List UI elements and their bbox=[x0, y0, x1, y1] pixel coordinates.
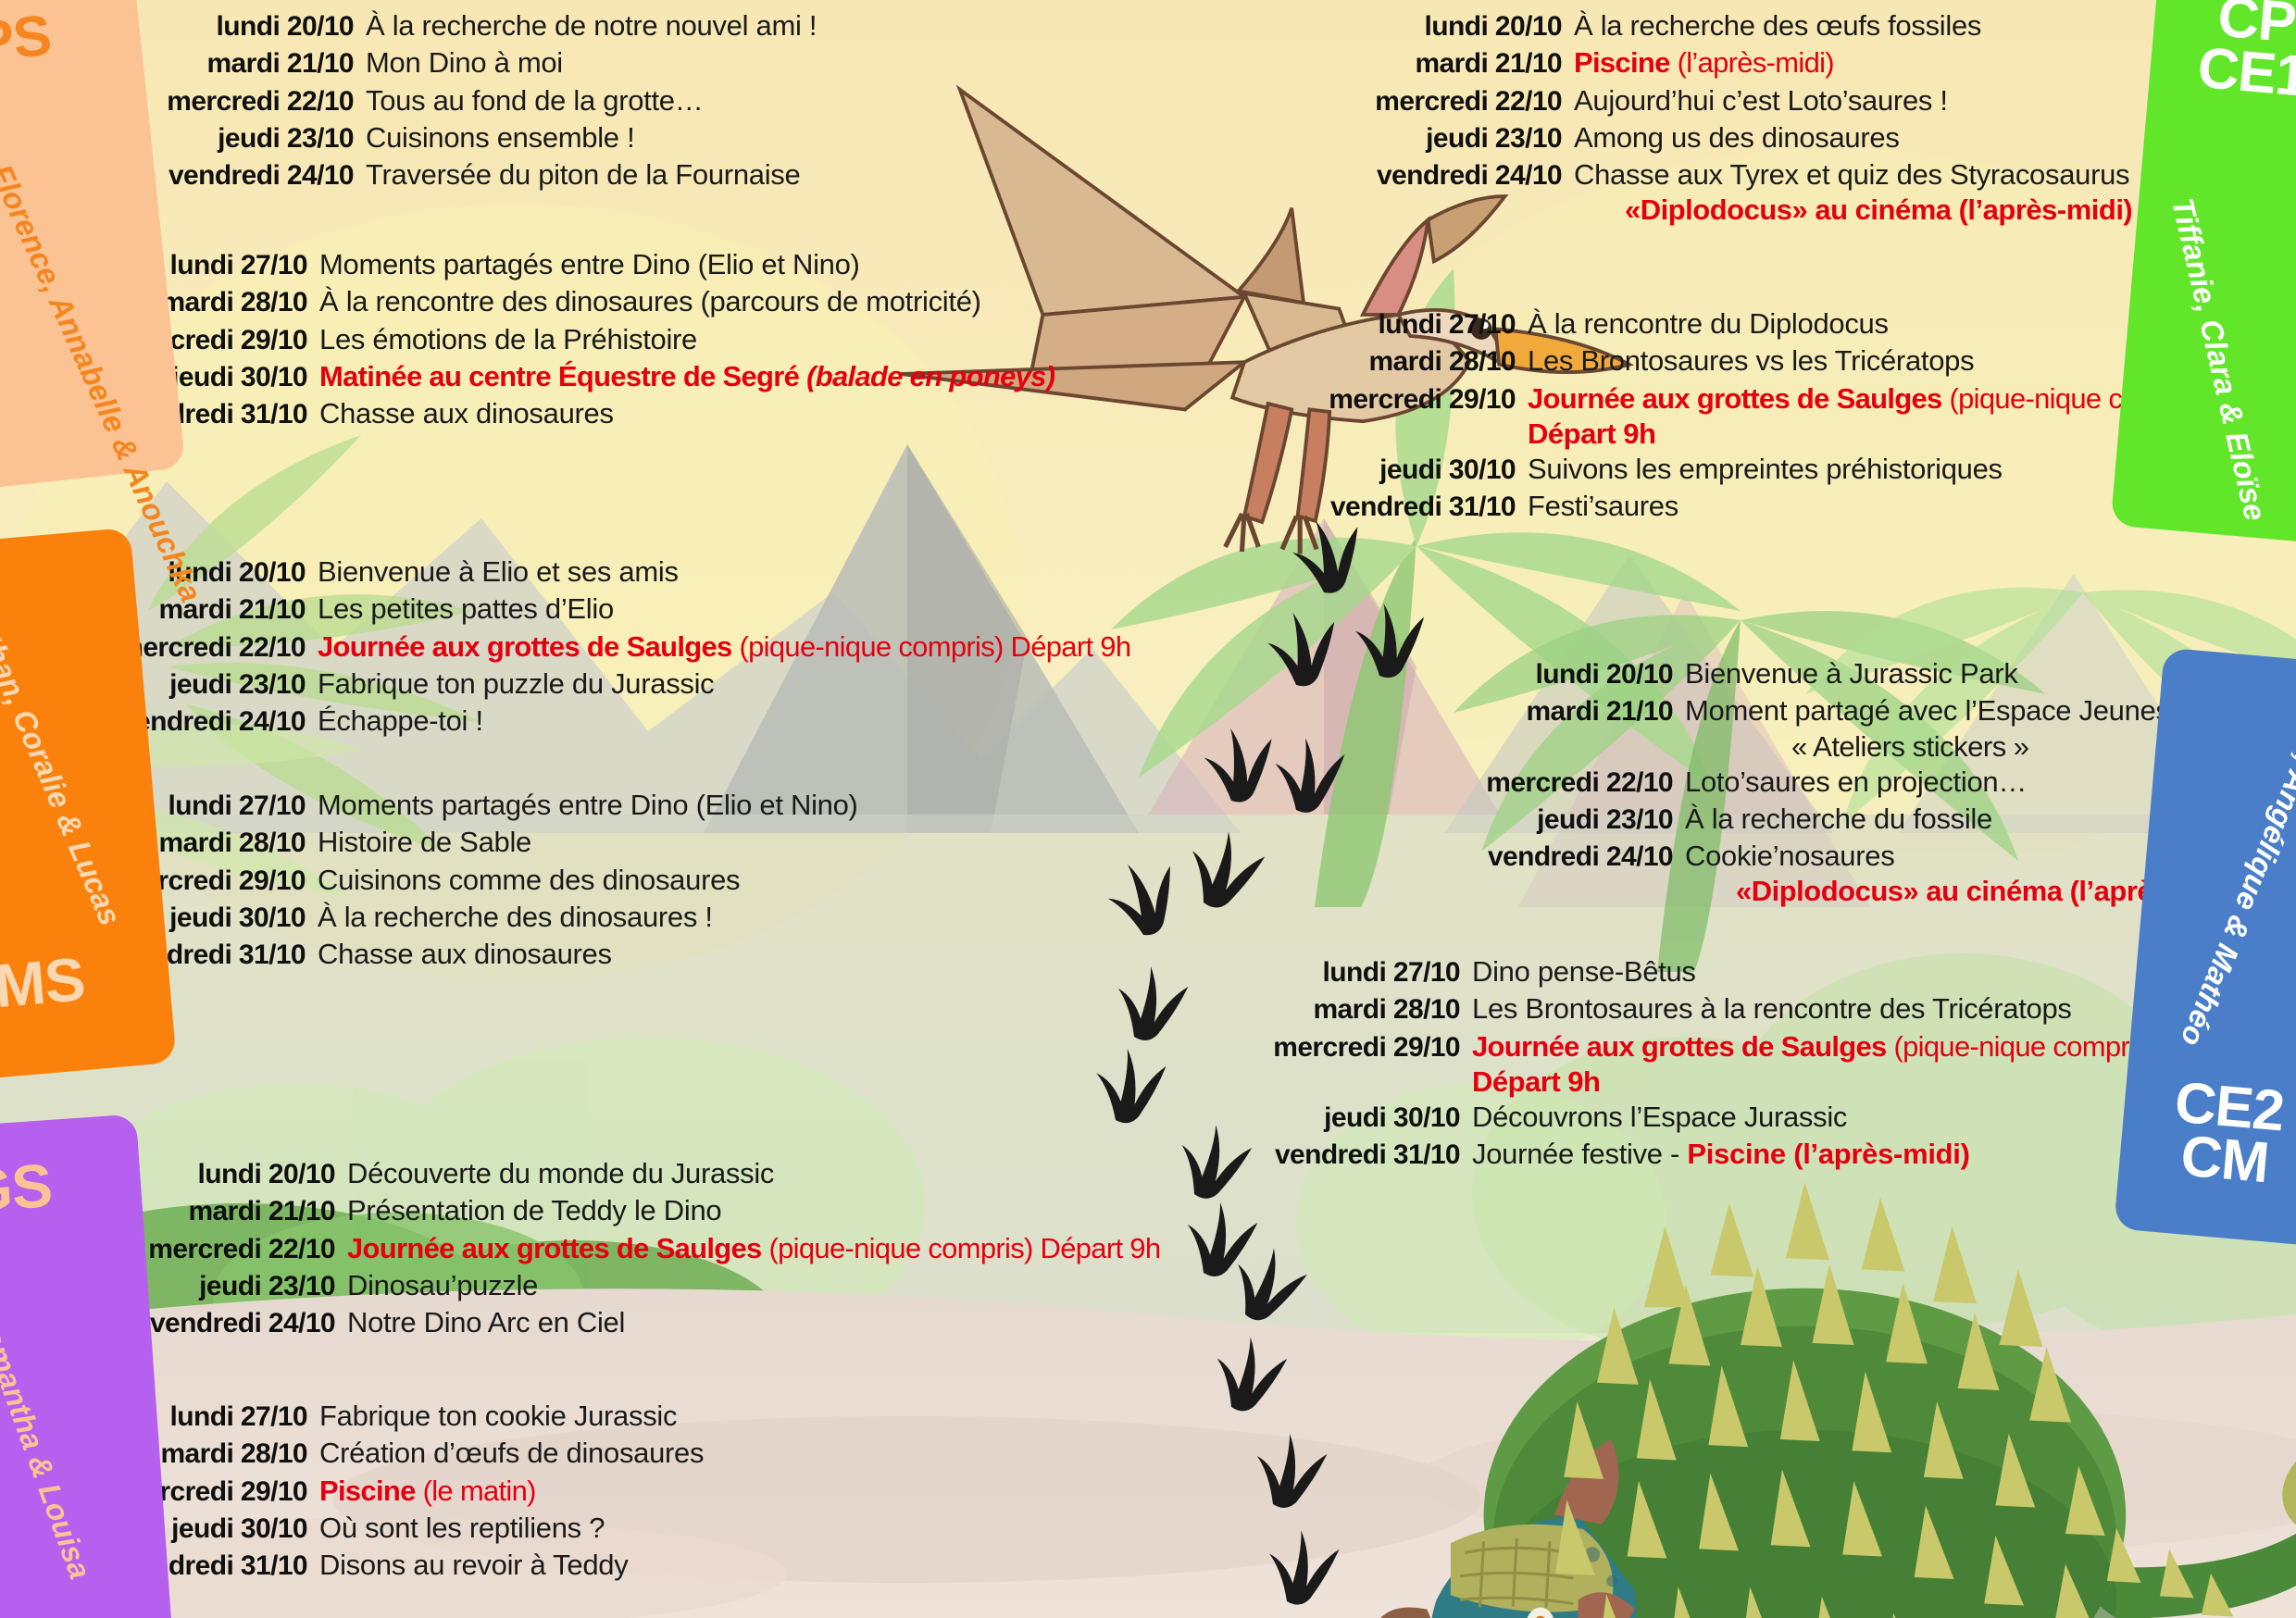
activity: Fabrique ton cookie Jurassic bbox=[307, 1398, 677, 1435]
activity-continuation: Départ 9h bbox=[1245, 1065, 2158, 1099]
group-code-cp-ce1: CP CE1 bbox=[2158, 0, 2296, 106]
schedule-row: mardi 21/10 Moment partagé avec l’Espace… bbox=[1458, 692, 2243, 729]
activity: Découverte du monde du Jurassic bbox=[335, 1155, 774, 1192]
day-date: mardi 28/10 bbox=[1301, 343, 1516, 380]
schedule-ce2-cm-week2: lundi 27/10 Dino pense-Bêtus mardi 28/10… bbox=[1245, 953, 2158, 1173]
schedule-row: mercredi 22/10 Loto’saures en projection… bbox=[1458, 764, 2243, 801]
schedule-ps-week1: lundi 20/10 À la recherche de notre nouv… bbox=[139, 7, 817, 193]
activity: Cuisinons ensemble ! bbox=[354, 119, 634, 156]
schedule-row: lundi 20/10 Découverte du monde du Juras… bbox=[120, 1155, 1160, 1192]
schedule-ms-week2: lundi 27/10 Moments partagés entre Dino … bbox=[91, 787, 858, 973]
schedule-row: mercredi 22/10 Tous au fond de la grotte… bbox=[139, 82, 817, 119]
activity: Matinée au centre Équestre de Segré (bal… bbox=[307, 358, 1054, 395]
schedule-row: jeudi 23/10 Dinosau’puzzle bbox=[120, 1267, 1160, 1304]
activity-main: Piscine bbox=[1574, 46, 1670, 79]
activity: À la recherche de notre nouvel ami ! bbox=[354, 7, 817, 44]
group-code-ps: PS bbox=[0, 3, 113, 76]
activity: Les petites pattes d’Elio bbox=[306, 591, 614, 628]
schedule-row: jeudi 30/10 Suivons les empreintes préhi… bbox=[1301, 451, 2214, 488]
day-date: mardi 21/10 bbox=[1347, 45, 1562, 81]
schedule-row: lundi 27/10 Moments partagés entre Dino … bbox=[93, 246, 1054, 283]
activity-continuation: Départ 9h bbox=[1301, 417, 2214, 451]
day-date: jeudi 23/10 bbox=[120, 1268, 335, 1304]
activity: Où sont les reptiliens ? bbox=[307, 1510, 605, 1547]
schedule-row: jeudi 23/10 Among us des dinosaures bbox=[1347, 119, 2132, 156]
schedule-row: vendredi 31/10 Chasse aux dinosaures bbox=[91, 936, 858, 973]
activity: Histoire de Sable bbox=[306, 824, 531, 861]
schedule-cp-ce1-week2: lundi 27/10 À la rencontre du Diplodocus… bbox=[1301, 305, 2214, 525]
activity: Among us des dinosaures bbox=[1562, 119, 1900, 156]
schedule-row-highlight: mercredi 29/10 Piscine (le matin) bbox=[93, 1473, 704, 1510]
schedule-row: vendredi 24/10 Notre Dino Arc en Ciel bbox=[120, 1304, 1160, 1341]
schedule-row: vendredi 24/10 Cookie’nosaures bbox=[1458, 838, 2243, 875]
activity: À la recherche du fossile bbox=[1673, 801, 1992, 838]
day-date: mardi 28/10 bbox=[1245, 991, 1460, 1027]
activity: Tous au fond de la grotte… bbox=[354, 82, 703, 119]
schedule-gs-week2: lundi 27/10 Fabrique ton cookie Jurassic… bbox=[93, 1398, 704, 1584]
activity: Moments partagés entre Dino (Elio et Nin… bbox=[306, 787, 858, 824]
activity: Moment partagé avec l’Espace Jeunes bbox=[1673, 692, 2170, 729]
activity: Mon Dino à moi bbox=[354, 44, 563, 81]
activity: Fabrique ton puzzle du Jurassic bbox=[306, 666, 714, 703]
schedule-gs-week1: lundi 20/10 Découverte du monde du Juras… bbox=[120, 1155, 1160, 1341]
activity-prefix: Journée festive - bbox=[1472, 1138, 1687, 1170]
day-date: vendredi 24/10 bbox=[139, 157, 354, 193]
day-date: lundi 20/10 bbox=[139, 8, 354, 44]
activity: Création d’œufs de dinosaures bbox=[307, 1435, 704, 1472]
schedule-row: lundi 27/10 Fabrique ton cookie Jurassic bbox=[93, 1398, 704, 1435]
activity-extra-note: «Diplodocus» au cinéma (l’après-midi) bbox=[1458, 875, 2243, 908]
activity: Aujourd’hui c’est Loto’saures ! bbox=[1562, 82, 1948, 119]
activity-note: (pique-nique compris) Départ 9h bbox=[740, 630, 1131, 663]
day-date: vendredi 31/10 bbox=[1301, 489, 1516, 525]
activity: Journée festive - Piscine (l’après-midi) bbox=[1460, 1136, 1970, 1173]
activity: À la recherche des œufs fossiles bbox=[1562, 7, 1981, 44]
day-date: vendredi 31/10 bbox=[1245, 1137, 1460, 1173]
schedule-row: mercredi 29/10 Cuisinons comme des dinos… bbox=[91, 862, 858, 899]
activity: Moments partagés entre Dino (Elio et Nin… bbox=[307, 246, 860, 283]
activity: Bienvenue à Elio et ses amis bbox=[306, 554, 679, 591]
group-names-ms: Nathan, Coralie & Lucas bbox=[0, 593, 128, 930]
group-code-ce2-cm: CE2 CM bbox=[2128, 1073, 2296, 1195]
day-date: mardi 21/10 bbox=[120, 1193, 335, 1229]
activity-note: (l’après-midi) bbox=[1793, 1138, 1969, 1170]
schedule-row: lundi 20/10 Bienvenue à Jurassic Park bbox=[1458, 655, 2243, 692]
schedule-row: mardi 28/10 Création d’œufs de dinosaure… bbox=[93, 1435, 704, 1472]
group-names-ce2-cm: Loïc, Angélique & Mathéo bbox=[2173, 693, 2296, 1052]
activity-main: Journée aux grottes de Saulges bbox=[1472, 1030, 1887, 1063]
activity-note: (pique-nique compris) bbox=[1894, 1030, 2158, 1063]
group-names-cp-ce1: Tiffanie, Clara & Eloïse bbox=[2165, 194, 2273, 524]
schedule-row: mardi 28/10 Les Brontosaures vs les Tric… bbox=[1301, 342, 2214, 380]
day-date: jeudi 23/10 bbox=[139, 120, 354, 156]
schedule-row: lundi 27/10 Dino pense-Bêtus bbox=[1245, 953, 2158, 990]
activity: Loto’saures en projection… bbox=[1673, 764, 2027, 801]
day-date: vendredi 24/10 bbox=[1458, 839, 1673, 875]
schedule-row: vendredi 31/10 Chasse aux dinosaures bbox=[93, 395, 1054, 432]
schedule-row: mercredi 29/10 Les émotions de la Préhis… bbox=[93, 321, 1054, 358]
activity: Piscine (le matin) bbox=[307, 1473, 536, 1510]
day-date: vendredi 24/10 bbox=[120, 1305, 335, 1341]
day-date: lundi 27/10 bbox=[1245, 954, 1460, 990]
activity: À la recherche des dinosaures ! bbox=[306, 899, 713, 936]
schedule-row: vendredi 24/10 Chasse aux Tyrex et quiz … bbox=[1347, 156, 2132, 193]
activity-note: (l’après-midi) bbox=[1678, 46, 1834, 79]
activity: Échappe-toi ! bbox=[306, 703, 483, 740]
schedule-row: lundi 27/10 À la rencontre du Diplodocus bbox=[1301, 305, 2214, 342]
activity: Journée aux grottes de Saulges (pique-ni… bbox=[1516, 380, 2214, 417]
day-date: mercredi 22/10 bbox=[139, 83, 354, 119]
activity: Chasse aux Tyrex et quiz des Styracosaur… bbox=[1562, 156, 2129, 193]
day-date: mercredi 22/10 bbox=[1347, 83, 1562, 119]
activity-note: (balade en poneys) bbox=[806, 360, 1054, 392]
activity-main: Journée aux grottes de Saulges bbox=[347, 1232, 762, 1264]
activity-main: Piscine bbox=[1687, 1138, 1785, 1170]
activity-main: Matinée au centre Équestre de Segré bbox=[319, 360, 799, 392]
group-names-gs: Samantha & Louisa bbox=[0, 1305, 98, 1584]
day-date: jeudi 30/10 bbox=[1301, 452, 1516, 488]
activity: Présentation de Teddy le Dino bbox=[335, 1192, 721, 1229]
schedule-row: vendredi 24/10 Traversée du piton de la … bbox=[139, 156, 817, 193]
activity: Disons au revoir à Teddy bbox=[307, 1547, 628, 1584]
day-date: mardi 21/10 bbox=[139, 45, 354, 81]
activity: Découvrons l’Espace Jurassic bbox=[1460, 1099, 1847, 1136]
day-date: mercredi 22/10 bbox=[1458, 765, 1673, 801]
group-code-gs: GS bbox=[0, 1153, 109, 1223]
schedule-row: mardi 28/10 Histoire de Sable bbox=[91, 824, 858, 861]
activity: Cookie’nosaures bbox=[1673, 838, 1894, 875]
activity: À la rencontre du Diplodocus bbox=[1516, 305, 1889, 342]
activity: Bienvenue à Jurassic Park bbox=[1673, 655, 2018, 692]
schedule-row: jeudi 23/10 Fabrique ton puzzle du Juras… bbox=[91, 666, 1130, 703]
activity: Notre Dino Arc en Ciel bbox=[335, 1304, 625, 1341]
day-date: mercredi 29/10 bbox=[1245, 1029, 1460, 1065]
day-date: mardi 21/10 bbox=[1458, 693, 1673, 729]
schedule-ps-week2: lundi 27/10 Moments partagés entre Dino … bbox=[93, 246, 1054, 432]
activity-extra-note: «Diplodocus» au cinéma (l’après-midi) bbox=[1347, 193, 2132, 227]
schedule-row-highlight: mercredi 29/10 Journée aux grottes de Sa… bbox=[1245, 1028, 2158, 1065]
schedule-row: jeudi 30/10 Où sont les reptiliens ? bbox=[93, 1510, 704, 1547]
activity: Dinosau’puzzle bbox=[335, 1267, 538, 1304]
schedule-row: vendredi 31/10 Disons au revoir à Teddy bbox=[93, 1547, 704, 1584]
schedule-row-highlight: jeudi 30/10 Matinée au centre Équestre d… bbox=[93, 358, 1054, 395]
schedule-cp-ce1-week1: lundi 20/10 À la recherche des œufs foss… bbox=[1347, 7, 2132, 227]
schedule-row: mercredi 22/10 Aujourd’hui c’est Loto’sa… bbox=[1347, 82, 2132, 119]
schedule-row: jeudi 23/10 Cuisinons ensemble ! bbox=[139, 119, 817, 156]
activity-note: (le matin) bbox=[423, 1475, 536, 1507]
schedule-row: lundi 20/10 Bienvenue à Elio et ses amis bbox=[91, 554, 1130, 591]
schedule-row-highlight: mercredi 29/10 Journée aux grottes de Sa… bbox=[1301, 380, 2214, 417]
activity-note: (pique-nique compris) Départ 9h bbox=[769, 1232, 1161, 1264]
activity: Journée aux grottes de Saulges (pique-ni… bbox=[335, 1230, 1160, 1267]
group-code-ms: MS bbox=[0, 946, 140, 1019]
activity: Journée aux grottes de Saulges (pique-ni… bbox=[1460, 1028, 2158, 1065]
schedule-row: jeudi 30/10 À la recherche des dinosaure… bbox=[91, 899, 858, 936]
activity-main: Journée aux grottes de Saulges bbox=[318, 630, 732, 663]
day-date: lundi 20/10 bbox=[120, 1156, 335, 1192]
day-date: lundi 27/10 bbox=[1301, 306, 1516, 342]
day-date: mercredi 29/10 bbox=[1301, 381, 1516, 417]
schedule-row: jeudi 23/10 À la recherche du fossile bbox=[1458, 801, 2243, 838]
activity: Les émotions de la Préhistoire bbox=[307, 321, 697, 358]
schedule-ce2-cm-week1: lundi 20/10 Bienvenue à Jurassic Park ma… bbox=[1458, 655, 2243, 908]
activity-main: Piscine bbox=[319, 1475, 416, 1507]
schedule-row: lundi 20/10 À la recherche des œufs foss… bbox=[1347, 7, 2132, 44]
day-date: lundi 20/10 bbox=[1347, 8, 1562, 44]
schedule-row: lundi 20/10 À la recherche de notre nouv… bbox=[139, 7, 817, 44]
schedule-row: vendredi 24/10 Échappe-toi ! bbox=[91, 703, 1130, 740]
activity: Suivons les empreintes préhistoriques bbox=[1516, 451, 2003, 488]
activity: Les Brontosaures à la rencontre des Tric… bbox=[1460, 990, 2072, 1027]
schedule-row: mardi 21/10 Mon Dino à moi bbox=[139, 44, 817, 81]
activity: Cuisinons comme des dinosaures bbox=[306, 862, 740, 899]
schedule-row: mardi 28/10 À la rencontre des dinosaure… bbox=[93, 283, 1054, 320]
schedule-row: mardi 21/10 Présentation de Teddy le Din… bbox=[120, 1192, 1160, 1229]
day-date: jeudi 30/10 bbox=[1245, 1100, 1460, 1136]
activity: Journée aux grottes de Saulges (pique-ni… bbox=[306, 629, 1130, 666]
schedule-row: jeudi 30/10 Découvrons l’Espace Jurassic bbox=[1245, 1099, 2158, 1136]
schedule-row: lundi 27/10 Moments partagés entre Dino … bbox=[91, 787, 858, 824]
activity: Dino pense-Bêtus bbox=[1460, 953, 1696, 990]
day-date: jeudi 23/10 bbox=[1347, 120, 1562, 156]
schedule-row: mardi 28/10 Les Brontosaures à la rencon… bbox=[1245, 990, 2158, 1027]
schedule-row-highlight: mercredi 22/10 Journée aux grottes de Sa… bbox=[120, 1230, 1160, 1267]
schedule-ms-week1: lundi 20/10 Bienvenue à Elio et ses amis… bbox=[91, 554, 1130, 740]
activity: Piscine (l’après-midi) bbox=[1562, 44, 1834, 81]
activity-continuation: « Ateliers stickers » bbox=[1458, 730, 2243, 764]
schedule-row-highlight: mercredi 22/10 Journée aux grottes de Sa… bbox=[91, 629, 1130, 666]
activity: Les Brontosaures vs les Tricératops bbox=[1516, 342, 1974, 380]
activity: Chasse aux dinosaures bbox=[306, 936, 612, 973]
activity: À la rencontre des dinosaures (parcours … bbox=[307, 283, 981, 320]
schedule-row: vendredi 31/10 Festi’saures bbox=[1301, 488, 2214, 525]
activity: Traversée du piton de la Fournaise bbox=[354, 156, 800, 193]
activity: Festi’saures bbox=[1516, 488, 1678, 525]
day-date: jeudi 23/10 bbox=[1458, 802, 1673, 838]
schedule-row: vendredi 31/10 Journée festive - Piscine… bbox=[1245, 1136, 2158, 1173]
activity-main: Journée aux grottes de Saulges bbox=[1528, 382, 1942, 415]
activity: Chasse aux dinosaures bbox=[307, 395, 614, 432]
day-date: lundi 20/10 bbox=[1458, 656, 1673, 692]
schedule-row: mardi 21/10 Les petites pattes d’Elio bbox=[91, 591, 1130, 628]
day-date: mercredi 22/10 bbox=[120, 1231, 335, 1267]
day-date: vendredi 24/10 bbox=[1347, 157, 1562, 193]
schedule-row-highlight: mardi 21/10 Piscine (l’après-midi) bbox=[1347, 44, 2132, 81]
